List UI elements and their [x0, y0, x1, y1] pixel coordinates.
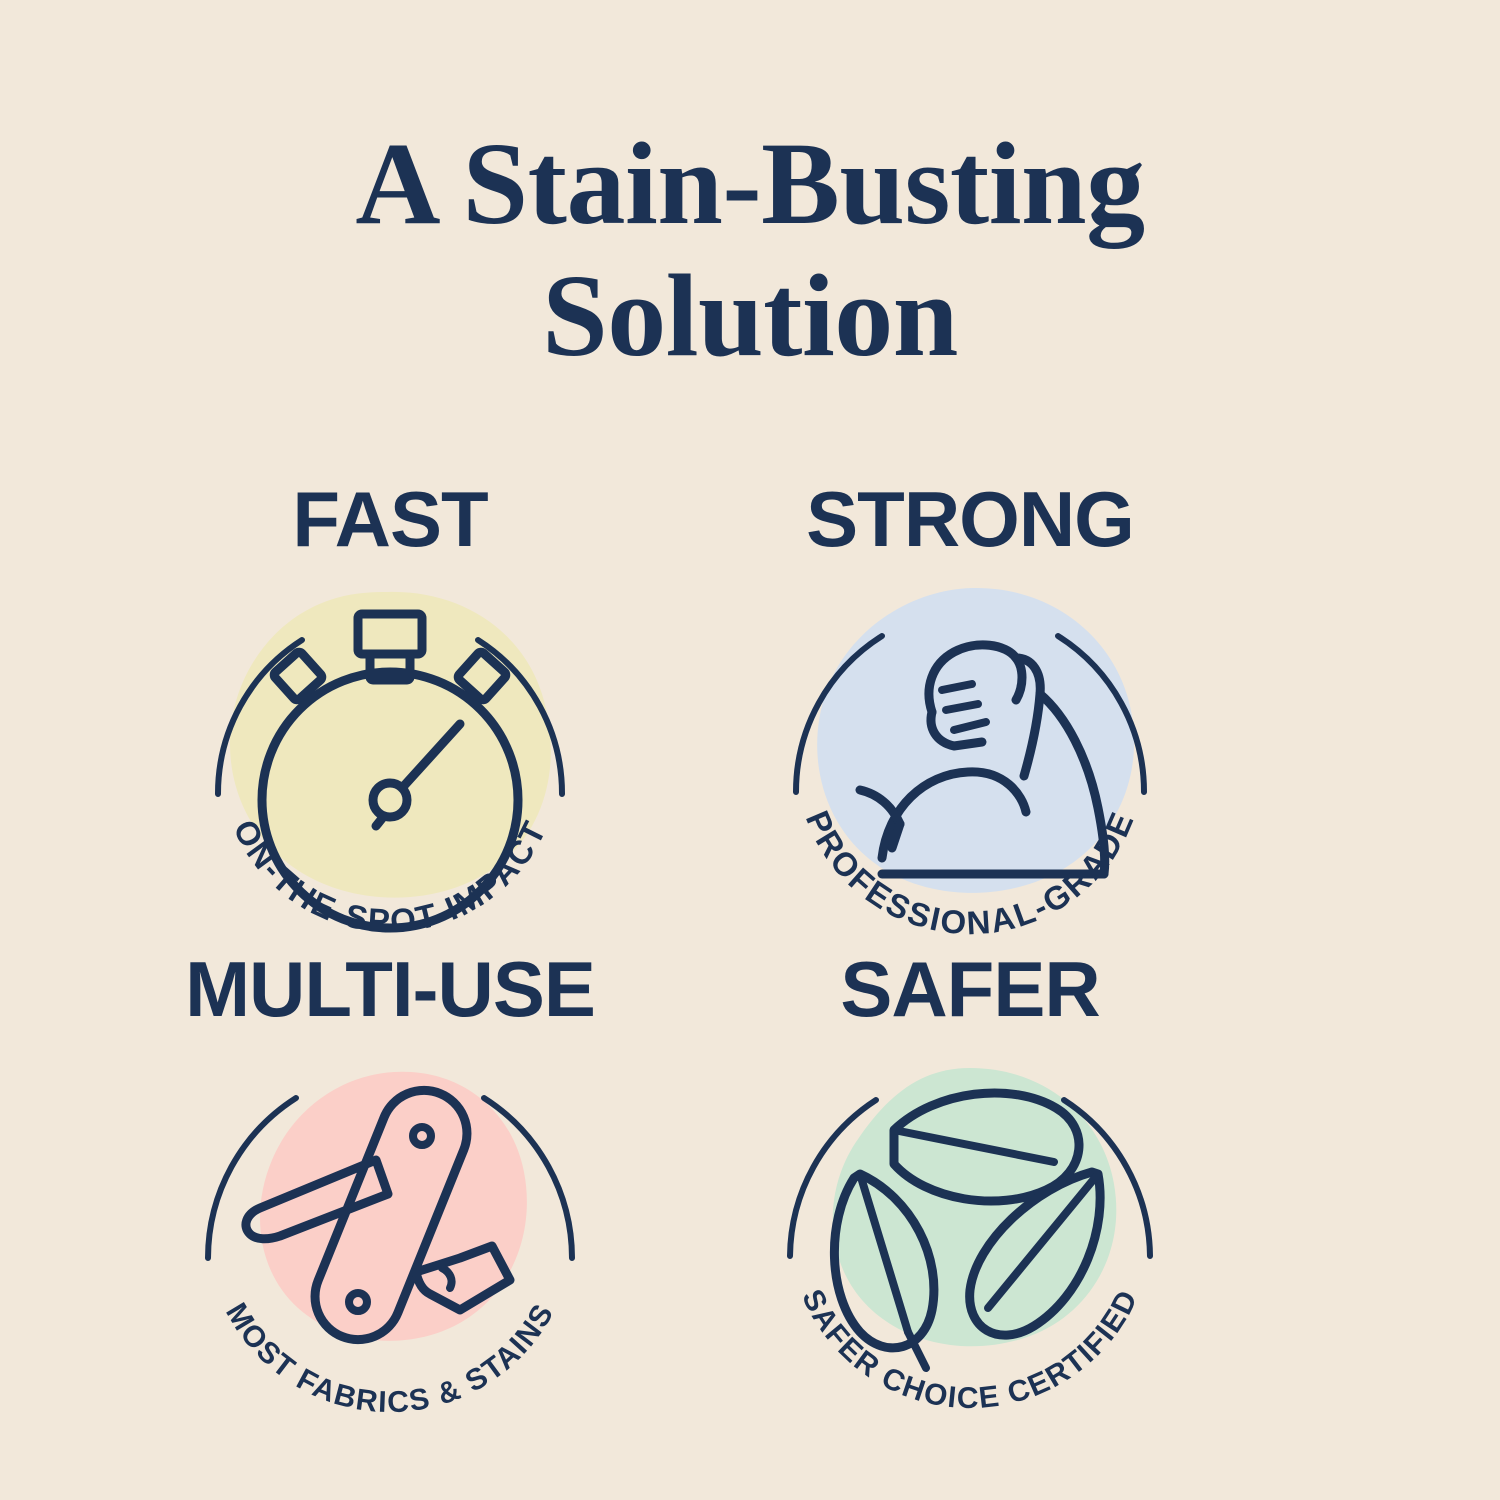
badge-strong-title: STRONG: [710, 480, 1230, 558]
title-line-1: A Stain-Busting: [0, 118, 1500, 250]
blob-pink: [260, 1072, 527, 1341]
badge-multi-use: MULTI-USE: [130, 950, 650, 1420]
badge-safer-art: SAFER CHOICE CERTIFIED: [710, 1032, 1230, 1422]
badge-safer-title: SAFER: [710, 950, 1230, 1028]
badge-safer: SAFER: [710, 950, 1230, 1420]
badge-fast-title: FAST: [130, 480, 650, 558]
badge-multi-use-title: MULTI-USE: [130, 950, 650, 1028]
badge-strong: STRONG: [710, 480, 1230, 950]
title-line-2: Solution: [0, 250, 1500, 382]
badge-strong-art: PROFESSIONAL-GRADE: [710, 562, 1230, 952]
badge-multi-use-art: MOST FABRICS & STAINS: [130, 1032, 650, 1422]
page-title: A Stain-Busting Solution: [0, 118, 1500, 382]
badge-fast: FAST: [130, 480, 650, 950]
infographic-page: A Stain-Busting Solution FAST: [0, 0, 1500, 1500]
badge-fast-art: ON-THE-SPOT IMPACT: [130, 562, 650, 952]
benefit-badge-grid: FAST: [0, 470, 1500, 1430]
